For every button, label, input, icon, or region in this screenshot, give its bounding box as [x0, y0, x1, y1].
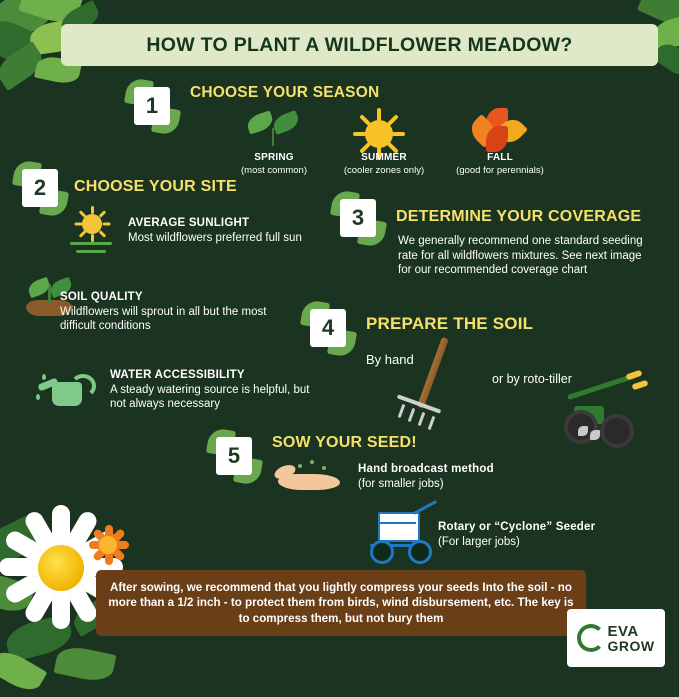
title-panel: HOW TO PLANT A WILDFLOWER MEADOW? [61, 24, 658, 66]
step-number-1: 1 [134, 87, 170, 125]
step-heading-2: CHOOSE YOUR SITE [74, 178, 237, 196]
site-water-label: WATER ACCESSIBILITY [110, 369, 245, 381]
rotary-spreader-icon [352, 506, 442, 566]
site-soil-text: Wildflowers will sprout in all but the m… [60, 306, 266, 333]
season-summer-name: SUMMER [361, 152, 407, 163]
watering-can-icon [40, 372, 100, 412]
season-spring-name: SPRING [254, 152, 294, 163]
season-summer-note: (cooler zones only) [344, 165, 424, 176]
step5-hand-block: Hand broadcast method (for smaller jobs) [358, 462, 558, 491]
step-badge-1: 1 [130, 84, 174, 128]
site-water-block: WATER ACCESSIBILITY A steady watering so… [110, 368, 322, 412]
footer-note-panel: After sowing, we recommend that you ligh… [96, 570, 586, 636]
site-sunlight-label: AVERAGE SUNLIGHT [128, 217, 249, 229]
step-badge-5: 5 [212, 434, 256, 478]
season-fall-name: FALL [487, 152, 513, 163]
brand-logo: EVA GROW [567, 609, 665, 667]
step5-rotary-label: Rotary or “Cyclone” Seeder [438, 521, 595, 533]
logo-sub: GROW [607, 639, 654, 653]
rake-icon [390, 340, 500, 430]
step-heading-4: PREPARE THE SOIL [366, 314, 533, 334]
step5-rotary-note: (For larger jobs) [438, 536, 520, 548]
maple-leaf-icon [472, 108, 524, 158]
step-number-3: 3 [340, 199, 376, 237]
sprout-icon [245, 112, 301, 152]
hand-broadcast-icon [272, 460, 350, 500]
season-spring-note: (most common) [241, 165, 307, 176]
leaf-circle-icon [577, 624, 605, 652]
season-summer: SUMMER (cooler zones only) [330, 152, 438, 176]
site-soil-block: SOIL QUALITY Wildflowers will sprout in … [60, 290, 270, 334]
season-spring: SPRING (most common) [226, 152, 322, 176]
site-soil-label: SOIL QUALITY [60, 291, 143, 303]
roto-tiller-icon [548, 368, 668, 448]
step-badge-2: 2 [18, 166, 62, 210]
logo-name: EVA [607, 624, 654, 639]
step-badge-4: 4 [306, 306, 350, 350]
step5-hand-label: Hand broadcast method [358, 463, 494, 475]
site-sunlight-block: AVERAGE SUNLIGHT Most wildflowers prefer… [128, 216, 324, 245]
marigold-flower-decoration [86, 523, 130, 567]
page-title: HOW TO PLANT A WILDFLOWER MEADOW? [146, 34, 572, 57]
step5-rotary-block: Rotary or “Cyclone” Seeder (For larger j… [438, 520, 648, 549]
step-number-4: 4 [310, 309, 346, 347]
step-heading-5: SOW YOUR SEED! [272, 434, 417, 452]
site-sunlight-text: Most wildflowers preferred full sun [128, 232, 302, 244]
season-fall: FALL (good for perennials) [440, 152, 560, 176]
sunlight-icon [64, 214, 126, 260]
step-badge-3: 3 [336, 196, 380, 240]
step-number-2: 2 [22, 169, 58, 207]
step3-description: We generally recommend one standard seed… [398, 234, 650, 278]
step-heading-1: CHOOSE YOUR SEASON [190, 84, 379, 102]
infographic-canvas: HOW TO PLANT A WILDFLOWER MEADOW? 1 CHOO… [0, 0, 679, 679]
footer-note-text: After sowing, we recommend that you ligh… [96, 580, 586, 627]
step-heading-3: DETERMINE YOUR COVERAGE [396, 208, 641, 226]
season-fall-note: (good for perennials) [456, 165, 544, 176]
step-number-5: 5 [216, 437, 252, 475]
step5-hand-note: (for smaller jobs) [358, 478, 444, 490]
site-water-text: A steady watering source is helpful, but… [110, 384, 309, 411]
